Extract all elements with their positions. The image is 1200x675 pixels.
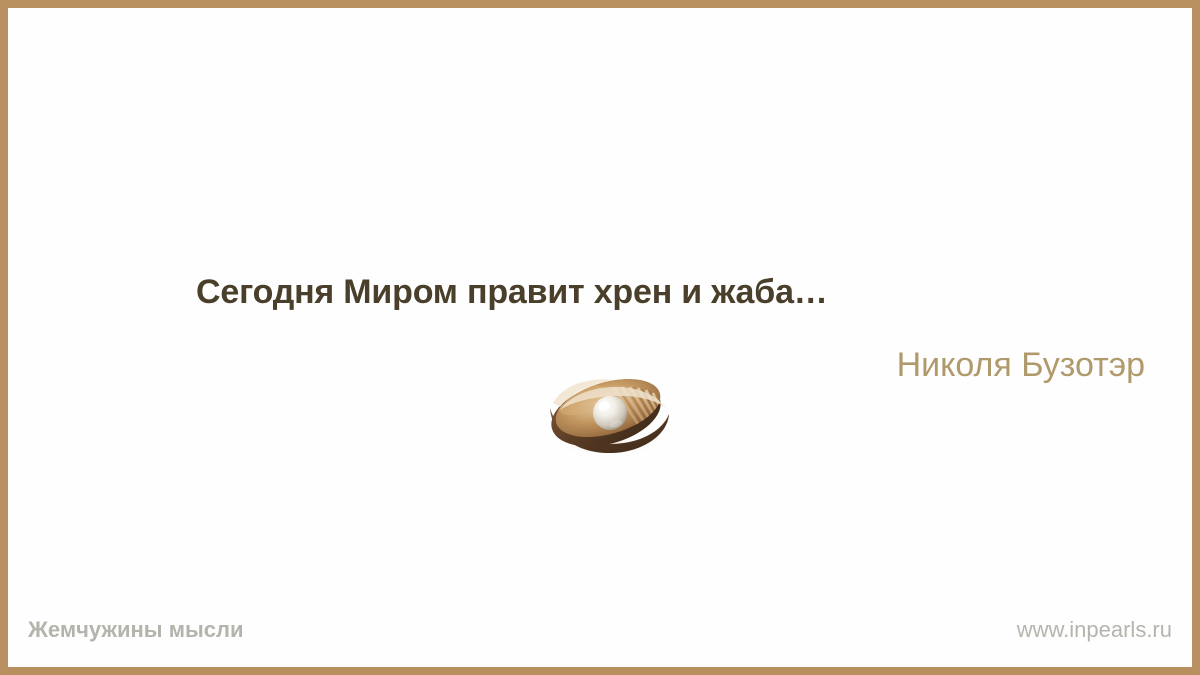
- quote-card: Сегодня Миром правит хрен и жаба… Николя…: [0, 0, 1200, 675]
- quote-text: Сегодня Миром правит хрен и жаба…: [196, 270, 1116, 314]
- oyster-shell-with-pearl-icon: [542, 374, 674, 456]
- site-name: Жемчужины мысли: [28, 617, 244, 643]
- quote-author: Николя Бузотэр: [897, 343, 1145, 387]
- site-url[interactable]: www.inpearls.ru: [1017, 617, 1172, 643]
